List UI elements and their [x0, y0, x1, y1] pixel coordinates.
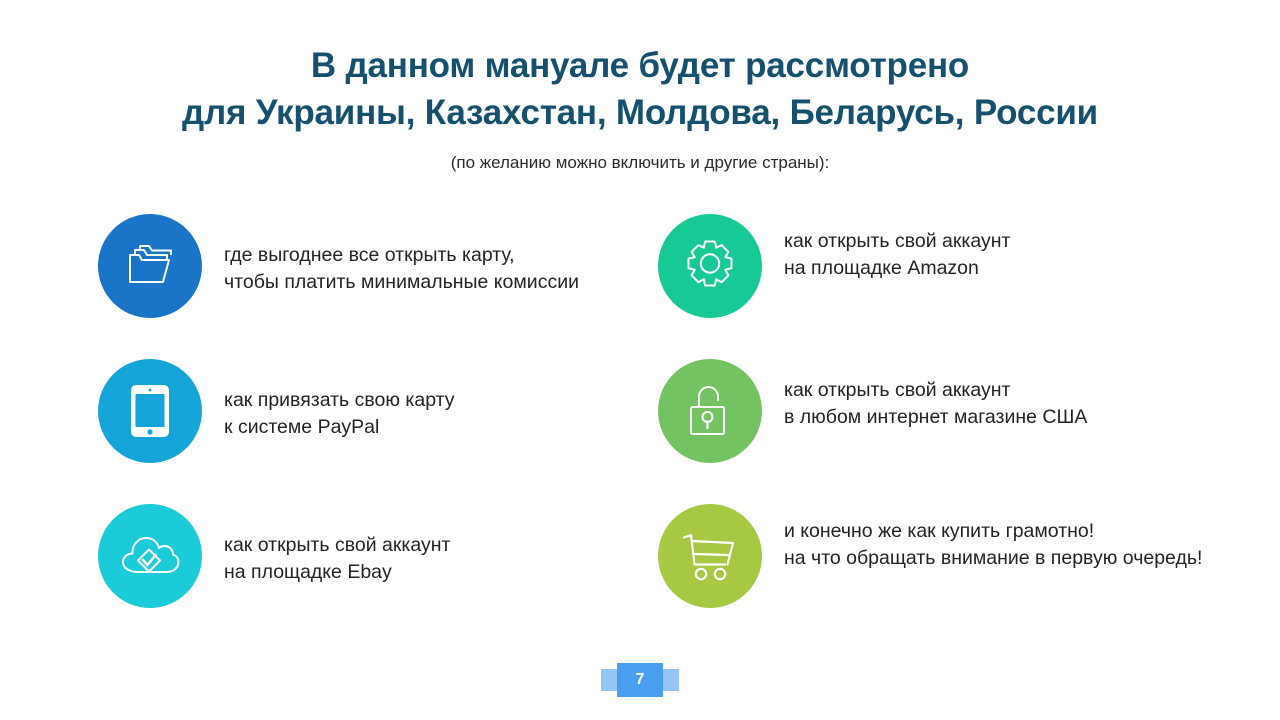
page-title-line-1: В данном мануале будет рассмотрено: [0, 42, 1280, 89]
right-column: как открыть свой аккаунт на площадке Ama…: [658, 210, 1268, 645]
list-item-text: как привязать свою карту к системе PayPa…: [224, 387, 455, 441]
list-item-text: как открыть свой аккаунт на площадке Ama…: [784, 228, 1010, 282]
list-item-text: как открыть свой аккаунт на площадке Eba…: [224, 532, 450, 586]
page-number-badge: 7: [0, 662, 1280, 698]
list-item-line-1: как привязать свою карту: [224, 387, 455, 414]
shopping-cart-icon-bubble: [658, 504, 762, 608]
list-item-line-2: на площадке Amazon: [784, 255, 1010, 282]
cloud-check-icon: [119, 532, 181, 580]
list-item[interactable]: где выгоднее все открыть карту, чтобы пл…: [98, 210, 658, 355]
folder-icon-bubble: [98, 214, 202, 318]
folder-icon: [122, 241, 178, 291]
list-item[interactable]: и конечно же как купить грамотно! на что…: [658, 500, 1268, 645]
list-item-line-1: где выгоднее все открыть карту,: [224, 242, 579, 269]
gear-icon: [682, 238, 738, 294]
list-item-line-2: в любом интернет магазине США: [784, 404, 1087, 431]
unlock-icon-bubble: [658, 359, 762, 463]
tablet-icon: [128, 383, 172, 439]
list-item-line-2: чтобы платить минимальные комиссии: [224, 269, 579, 296]
list-item-line-2: к системе PayPal: [224, 414, 455, 441]
list-item-line-1: как открыть свой аккаунт: [784, 228, 1010, 255]
list-item[interactable]: как привязать свою карту к системе PayPa…: [98, 355, 658, 500]
page-number: 7: [617, 663, 663, 697]
list-item[interactable]: как открыть свой аккаунт в любом интерне…: [658, 355, 1268, 500]
badge-wing-right: [663, 669, 679, 691]
left-column: где выгоднее все открыть карту, чтобы пл…: [98, 210, 658, 645]
list-item-text: и конечно же как купить грамотно! на что…: [784, 518, 1202, 572]
unlock-icon: [684, 382, 736, 440]
tablet-icon-bubble: [98, 359, 202, 463]
list-item-line-1: как открыть свой аккаунт: [224, 532, 450, 559]
list-item-line-1: и конечно же как купить грамотно!: [784, 518, 1202, 545]
list-item-line-2: на что обращать внимание в первую очеред…: [784, 545, 1202, 572]
list-item-line-1: как открыть свой аккаунт: [784, 377, 1087, 404]
list-item[interactable]: как открыть свой аккаунт на площадке Eba…: [98, 500, 658, 645]
badge-wing-left: [601, 669, 617, 691]
cloud-check-icon-bubble: [98, 504, 202, 608]
page-subtitle: (по желанию можно включить и другие стра…: [0, 152, 1280, 174]
slide-header: В данном мануале будет рассмотрено для У…: [0, 0, 1280, 174]
page-title-line-2: для Украины, Казахстан, Молдова, Беларус…: [0, 89, 1280, 136]
list-item-text: где выгоднее все открыть карту, чтобы пл…: [224, 242, 579, 296]
gear-icon-bubble: [658, 214, 762, 318]
list-item-line-2: на площадке Ebay: [224, 559, 450, 586]
list-item-text: как открыть свой аккаунт в любом интерне…: [784, 377, 1087, 431]
shopping-cart-icon: [680, 529, 740, 583]
list-item[interactable]: как открыть свой аккаунт на площадке Ama…: [658, 210, 1268, 355]
